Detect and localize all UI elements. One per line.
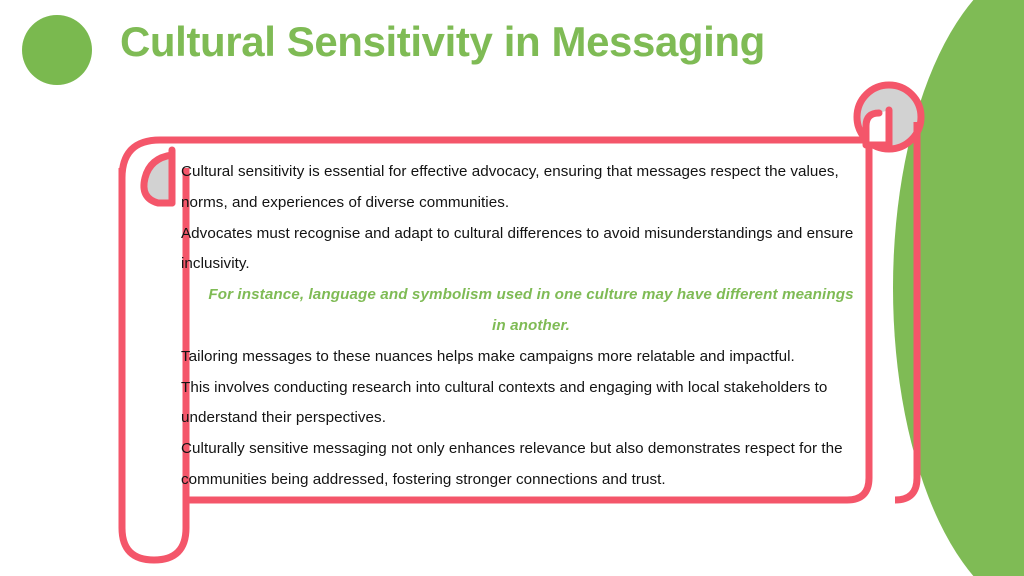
scroll-left-roll-fill bbox=[119, 168, 189, 563]
scroll-left-curl-inner bbox=[144, 155, 172, 203]
body-paragraph-5: This involves conducting research into c… bbox=[181, 373, 881, 435]
scroll-content-body: Cultural sensitivity is essential for ef… bbox=[181, 157, 881, 496]
body-paragraph-1: Cultural sensitivity is essential for ef… bbox=[181, 157, 881, 219]
title-bullet-circle-icon bbox=[22, 15, 92, 85]
highlight-paragraph: For instance, language and symbolism use… bbox=[181, 280, 881, 342]
scroll-right-curl-hook bbox=[866, 110, 889, 145]
page-title: Cultural Sensitivity in Messaging bbox=[120, 16, 910, 67]
slide-canvas: Cultural Sensitivity in Messaging Cultur… bbox=[0, 0, 1024, 576]
slide-header: Cultural Sensitivity in Messaging bbox=[0, 0, 1024, 100]
body-paragraph-6: Culturally sensitive messaging not only … bbox=[181, 434, 881, 496]
body-paragraph-4: Tailoring messages to these nuances help… bbox=[181, 342, 881, 373]
body-paragraph-2: Advocates must recognise and adapt to cu… bbox=[181, 219, 881, 281]
